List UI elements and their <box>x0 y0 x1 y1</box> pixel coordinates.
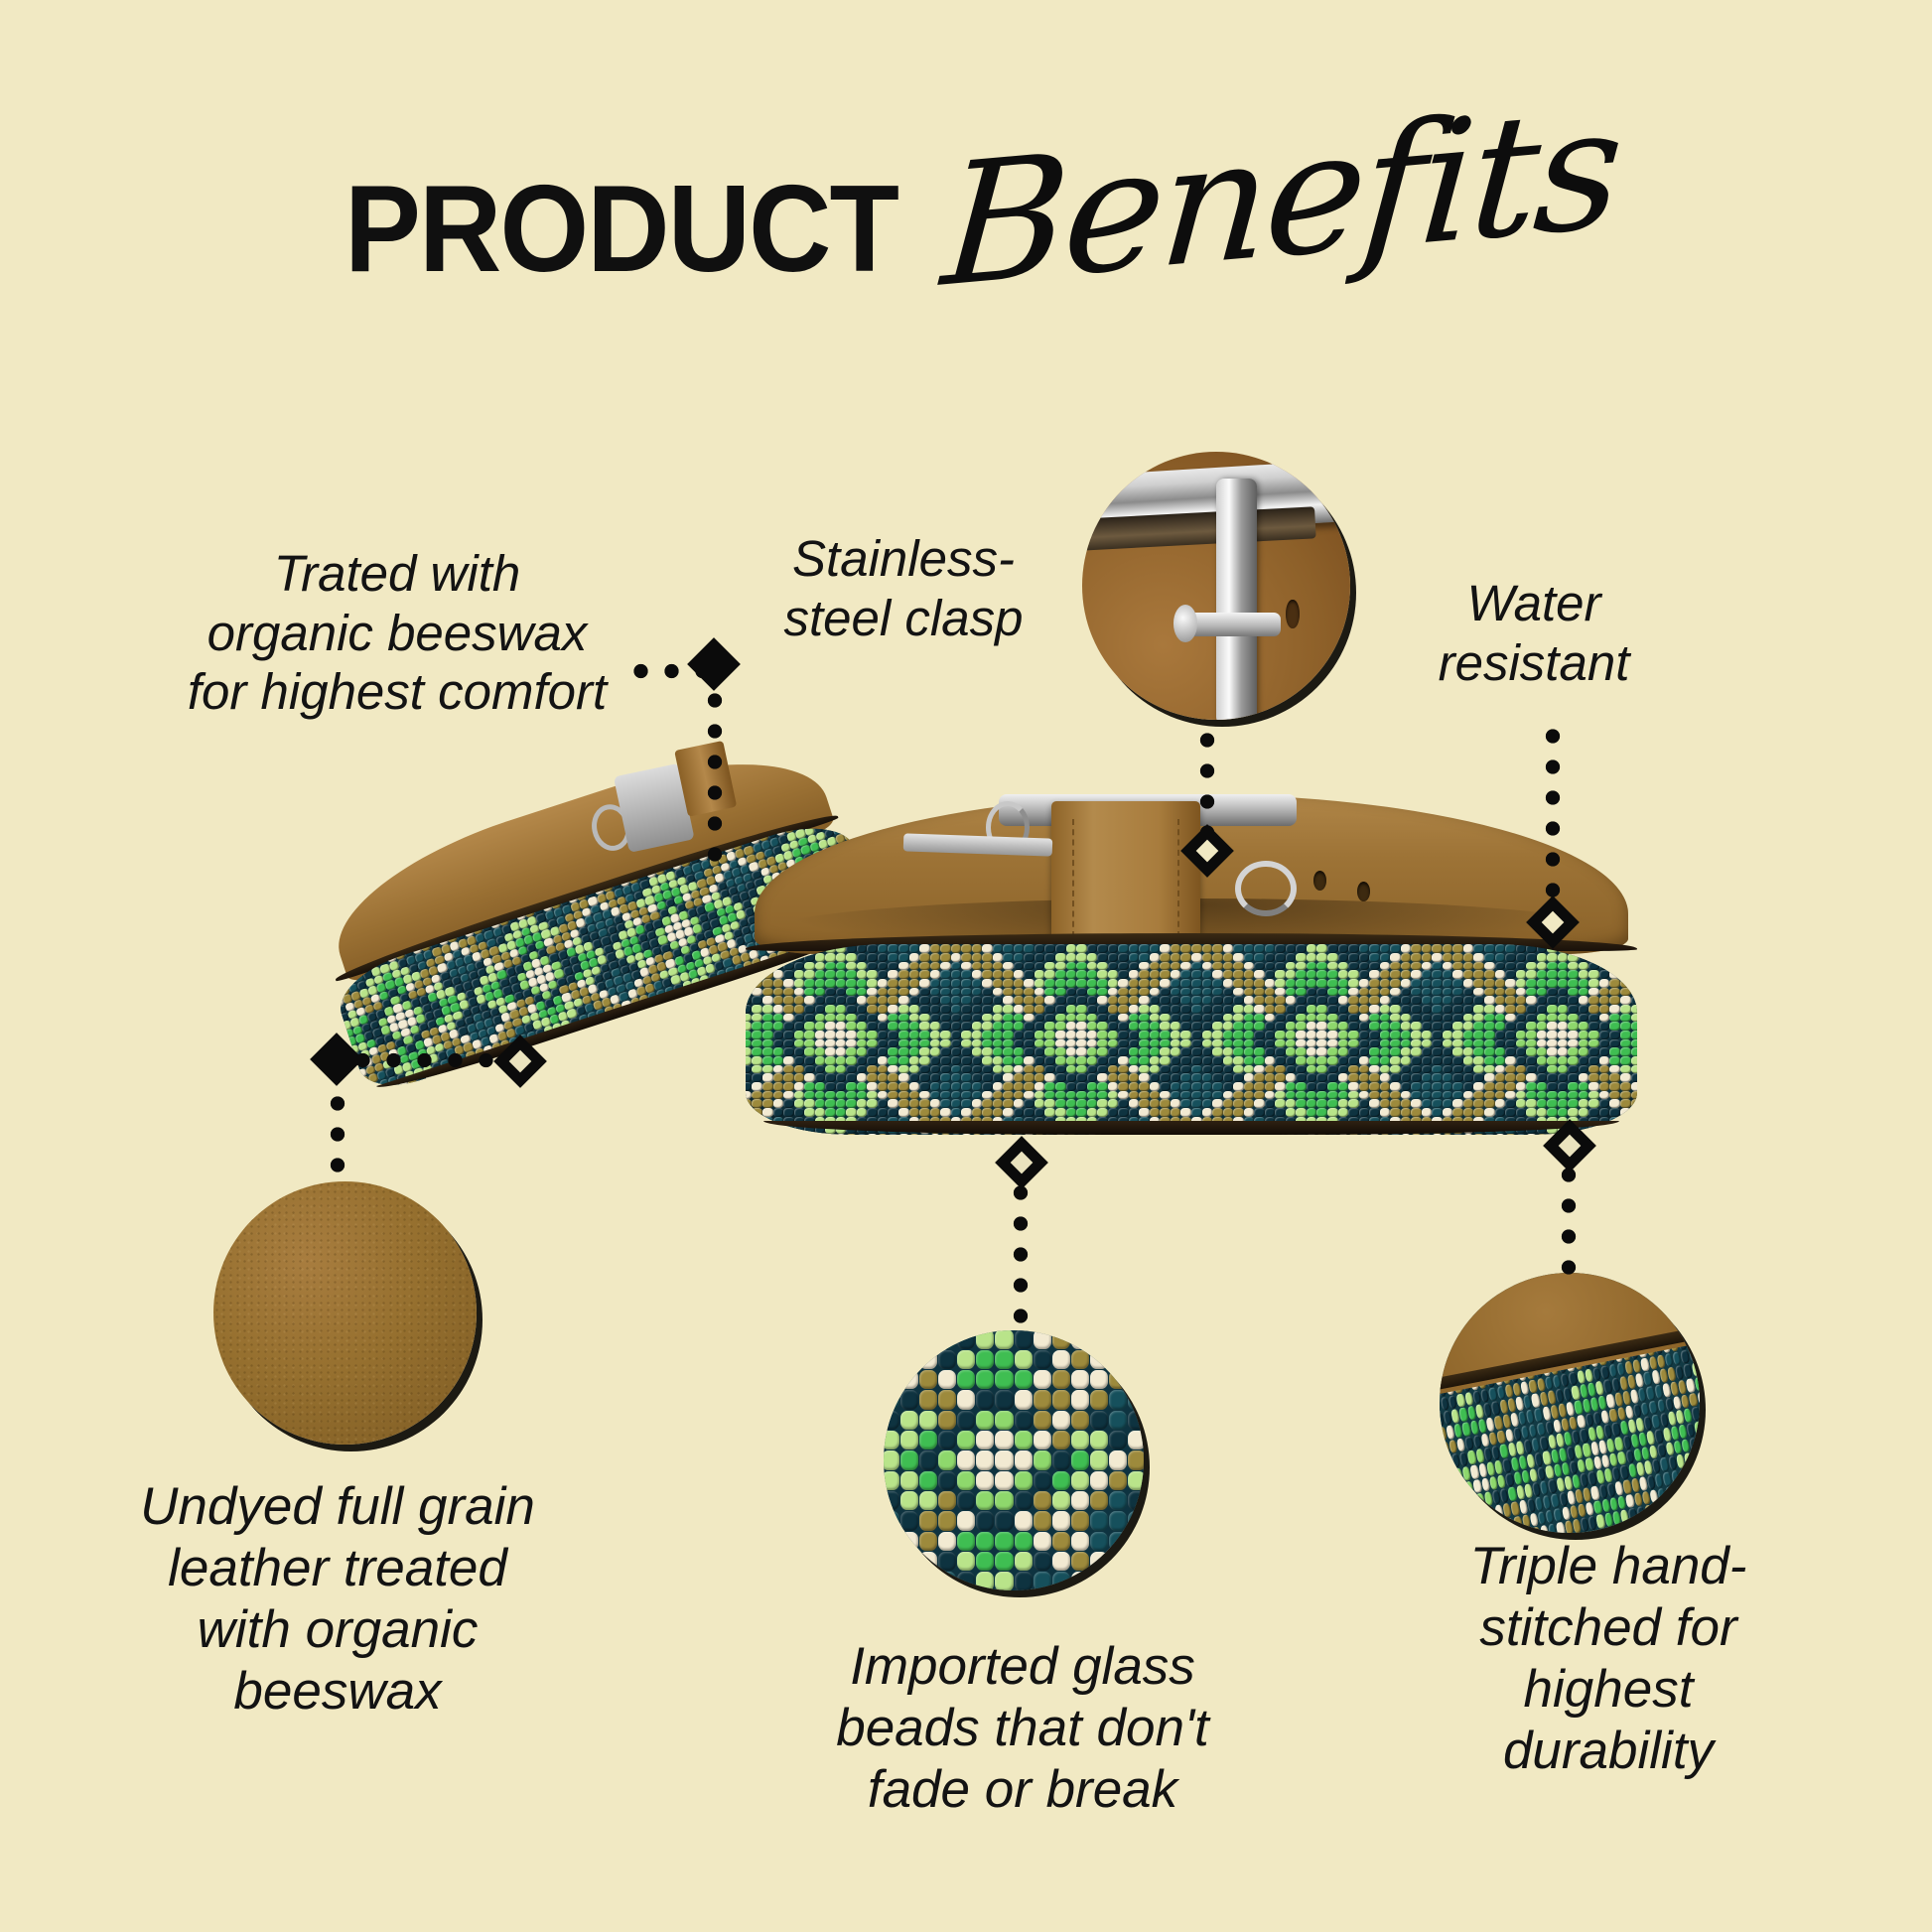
connector-beads <box>1013 1177 1029 1336</box>
label-imported-glass-beads: Imported glass beads that don't fade or … <box>794 1636 1251 1821</box>
bead-detail-bubble <box>884 1330 1144 1590</box>
infographic-canvas: PRODUCT Benefits <box>0 0 1932 1932</box>
main-collar-ring-right <box>1235 861 1297 916</box>
clasp-strap-hole <box>1286 600 1300 629</box>
label-water-resistant: Water resistant <box>1360 574 1708 692</box>
title-script-part: Benefits <box>938 83 1624 311</box>
connector-triple <box>1561 1160 1577 1279</box>
leather-grain-texture <box>213 1181 477 1445</box>
label-triple-hand-stitched: Triple hand- stitched for highest durabi… <box>1400 1536 1817 1782</box>
main-collar-bead-band <box>746 944 1637 1136</box>
main-collar-strap-stitch-left <box>1072 819 1074 937</box>
marker-beads <box>995 1136 1048 1189</box>
main-collar-strap-stitch-right <box>1177 819 1179 937</box>
clasp-metal-bar <box>1216 479 1257 720</box>
main-collar-hole-2 <box>1357 882 1370 901</box>
connector-beeswax-vertical <box>707 685 723 869</box>
clasp-detail-bubble <box>1082 452 1350 720</box>
label-stainless-steel-clasp: Stainless- steel clasp <box>725 529 1082 647</box>
connector-undyed <box>330 1088 345 1185</box>
connector-water <box>1545 721 1561 915</box>
stitch-detail-bubble <box>1440 1273 1700 1533</box>
page-title: PRODUCT Benefits <box>0 149 1932 310</box>
bead-weave-zoom <box>884 1330 1144 1590</box>
title-bold-part: PRODUCT <box>345 168 897 291</box>
label-undyed-leather: Undyed full grain leather treated with o… <box>79 1476 596 1723</box>
clasp-pin-head <box>1173 605 1197 642</box>
leather-swatch-bubble <box>213 1181 477 1445</box>
label-beeswax: Trated with organic beeswax for highest … <box>119 544 675 722</box>
